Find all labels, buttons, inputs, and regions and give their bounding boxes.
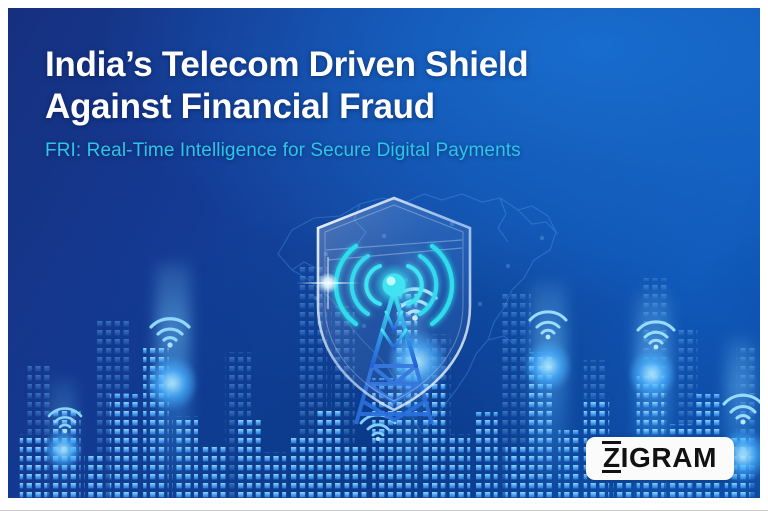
banner-frame: India’s Telecom Driven Shield Against Fi… — [0, 0, 768, 511]
tower-glow — [390, 326, 444, 398]
telecom-tower — [372, 292, 416, 366]
text-block: India’s Telecom Driven Shield Against Fi… — [45, 44, 665, 162]
light-beam — [156, 263, 190, 498]
light-beam — [50, 378, 76, 498]
sparkle-core — [318, 273, 338, 293]
logo-wordmark: ZIGRAM — [603, 444, 717, 472]
india-map-outline — [256, 158, 586, 458]
page-title: India’s Telecom Driven Shield Against Fi… — [45, 44, 665, 127]
tower-glow — [46, 428, 80, 472]
wifi-icon — [634, 318, 678, 350]
wifi-icon — [720, 392, 760, 425]
signal-arcs — [336, 246, 452, 324]
zigram-logo[interactable]: ZIGRAM — [586, 437, 734, 480]
banner-canvas: India’s Telecom Driven Shield Against Fi… — [8, 8, 760, 498]
tower-lower-legs — [356, 288, 432, 424]
signal-node — [383, 274, 406, 297]
protective-shield — [318, 198, 470, 410]
tower-glow — [630, 346, 674, 402]
wifi-icon — [146, 314, 194, 348]
wifi-icon — [46, 406, 84, 433]
logo-letter-z: Z — [603, 444, 621, 472]
tower-glow — [148, 353, 196, 413]
light-beam — [532, 283, 566, 498]
wifi-icon — [389, 284, 441, 321]
lens-flare-sparkle — [296, 251, 360, 315]
wifi-icon — [358, 412, 398, 441]
tower-glow — [526, 338, 570, 394]
logo-letters-rest: IGRAM — [621, 442, 717, 473]
page-subtitle: FRI: Real-Time Intelligence for Secure D… — [45, 140, 665, 162]
shield-with-cell-tower — [294, 188, 494, 438]
wifi-icon — [526, 308, 570, 340]
light-beam — [398, 248, 424, 498]
